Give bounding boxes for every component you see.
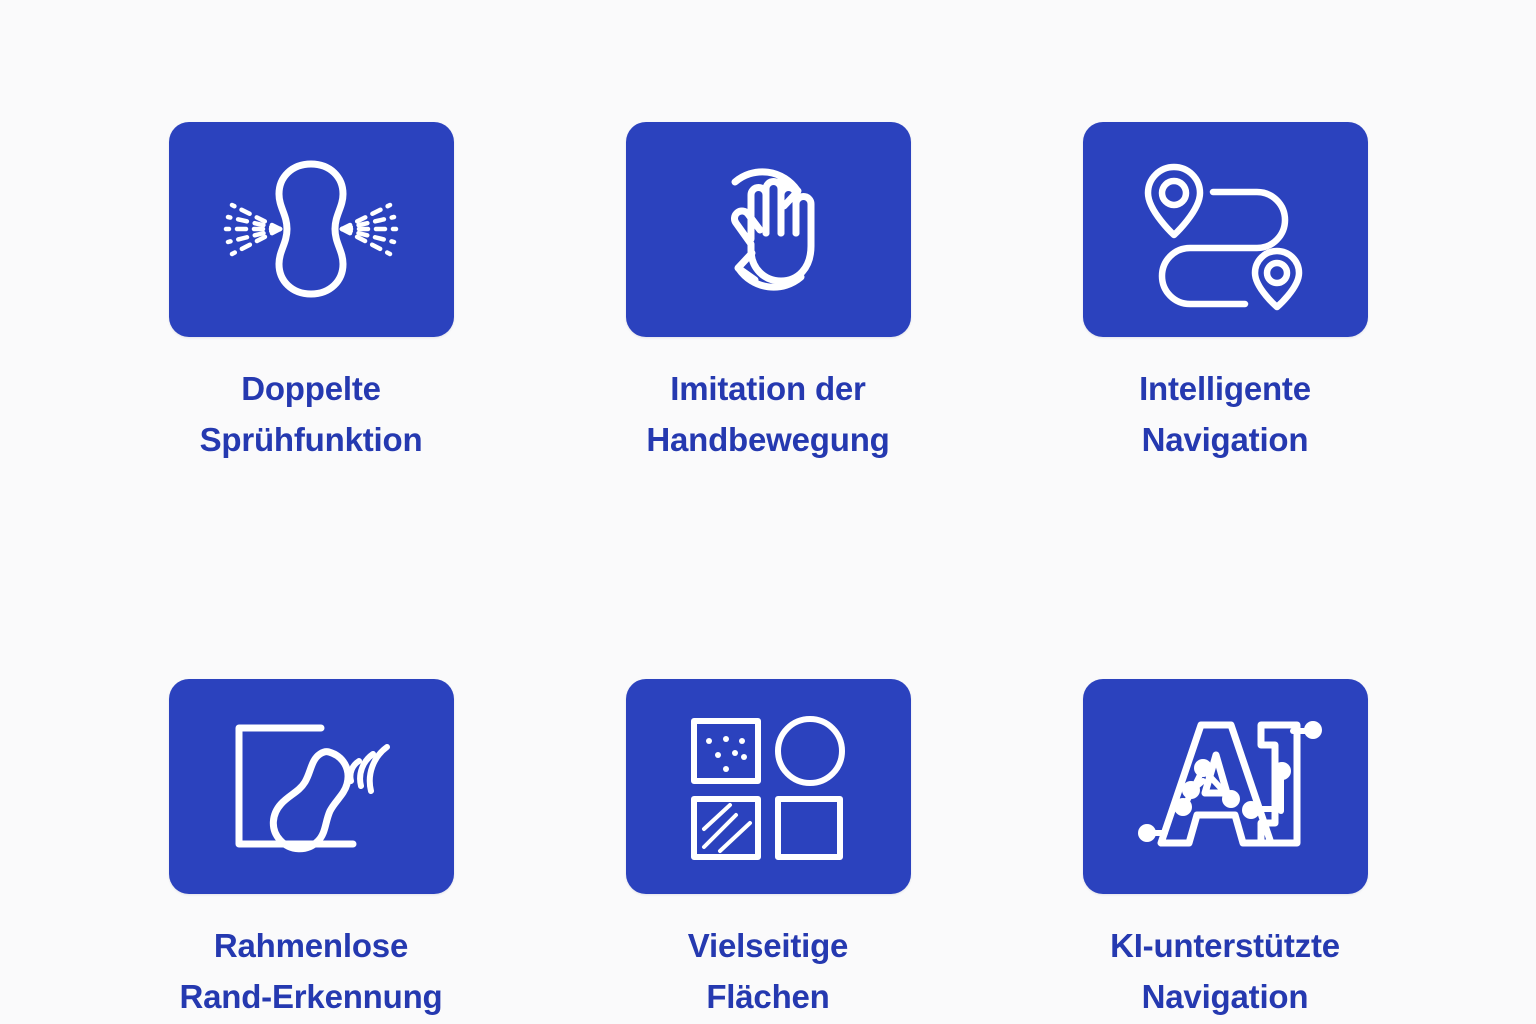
feature-label: Doppelte Sprühfunktion [146,363,476,466]
feature-icon-tile [626,122,911,337]
feature-icon-tile [626,679,911,894]
feature-card-dual-spray[interactable]: Doppelte Sprühfunktion [169,122,454,466]
feature-label-line1: Vielseitige [603,920,933,971]
feature-card-smart-navigation[interactable]: Intelligente Navigation [1083,122,1368,466]
feature-label: KI-unterstützte Navigation [1060,920,1390,1023]
feature-label-line1: Doppelte [146,363,476,414]
feature-label-line2: Rand-Erkennung [146,971,476,1022]
feature-card-multi-surface[interactable]: Vielseitige Flächen [626,679,911,1023]
feature-label-line1: Imitation der [603,363,933,414]
ai-circuit-icon [1125,711,1325,861]
hand-motion-icon [668,147,868,312]
feature-label: Intelligente Navigation [1060,363,1390,466]
feature-label-line2: Flächen [603,971,933,1022]
feature-label: Vielseitige Flächen [603,920,933,1023]
feature-label-line2: Navigation [1060,971,1390,1022]
feature-card-edge-detection[interactable]: Rahmenlose Rand-Erkennung [169,679,454,1023]
feature-card-ai-navigation[interactable]: KI-unterstützte Navigation [1083,679,1368,1023]
feature-label-line1: KI-unterstützte [1060,920,1390,971]
feature-label-line2: Sprühfunktion [146,414,476,465]
edge-detection-icon [211,706,411,866]
multi-surface-icon [678,709,858,864]
feature-card-hand-motion[interactable]: Imitation der Handbewegung [626,122,911,466]
feature-grid: Doppelte Sprühfunktion [0,122,1536,1023]
feature-label-line1: Rahmenlose [146,920,476,971]
feature-icon-tile [169,679,454,894]
feature-label: Imitation der Handbewegung [603,363,933,466]
feature-label-line2: Handbewegung [603,414,933,465]
feature-icon-tile [169,122,454,337]
dual-spray-icon [211,147,411,312]
feature-icon-tile [1083,122,1368,337]
feature-grid-board: Doppelte Sprühfunktion [0,0,1536,1024]
feature-icon-tile [1083,679,1368,894]
smart-route-icon [1125,147,1325,312]
feature-label-line1: Intelligente [1060,363,1390,414]
feature-label-line2: Navigation [1060,414,1390,465]
feature-label: Rahmenlose Rand-Erkennung [146,920,476,1023]
